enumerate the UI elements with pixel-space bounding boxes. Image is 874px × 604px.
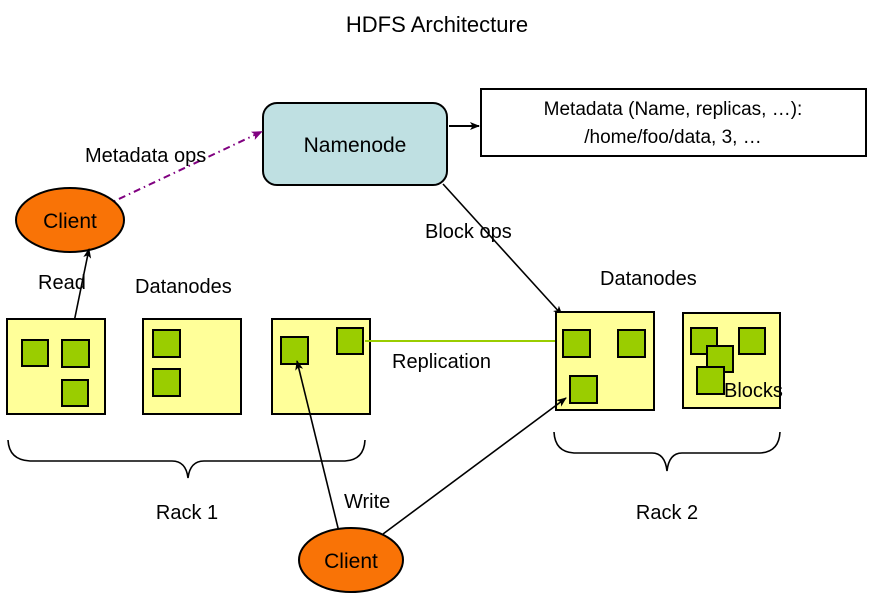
block <box>153 369 180 396</box>
block <box>570 376 597 403</box>
write-arrow-to-dn4 <box>383 398 566 534</box>
metadata-box-line1: Metadata (Name, replicas, …): <box>544 99 803 120</box>
rack1-brace <box>8 440 365 478</box>
datanode-dn2[interactable] <box>143 319 241 414</box>
block <box>739 328 765 354</box>
block <box>563 330 590 357</box>
block <box>697 367 724 394</box>
diagram-canvas: HDFS Architecture Metadata (Name, replic… <box>0 0 874 604</box>
rack1-label: Rack 1 <box>156 502 218 524</box>
block <box>618 330 645 357</box>
block <box>281 337 308 364</box>
block <box>62 380 88 406</box>
client-left-label: Client <box>43 210 97 233</box>
block-ops-arrow <box>443 184 562 315</box>
metadata-ops-arrow <box>104 132 261 206</box>
datanodes-right-label: Datanodes <box>600 268 697 290</box>
read-label: Read <box>38 272 86 294</box>
datanode-dn3[interactable] <box>272 319 370 414</box>
datanode-dn5[interactable]: Blocks <box>683 313 783 408</box>
rack2-brace <box>554 432 780 471</box>
page-title: HDFS Architecture <box>346 12 528 37</box>
block <box>62 340 89 367</box>
replication-label: Replication <box>392 351 491 373</box>
datanode-dn4[interactable] <box>556 312 654 410</box>
datanode-dn1[interactable] <box>7 319 105 414</box>
metadata-ops-label: Metadata ops <box>85 145 206 167</box>
metadata-box-line2: /home/foo/data, 3, … <box>584 127 761 148</box>
block <box>22 340 48 366</box>
block <box>153 330 180 357</box>
rack2-label: Rack 2 <box>636 502 698 524</box>
block <box>337 328 363 354</box>
blocks-label: Blocks <box>724 380 783 402</box>
client-bottom-label: Client <box>324 550 378 573</box>
write-label: Write <box>344 491 390 513</box>
namenode-label: Namenode <box>304 134 407 157</box>
datanodes-left-label: Datanodes <box>135 276 232 298</box>
block-ops-label: Block ops <box>425 221 512 243</box>
hdfs-architecture-diagram: HDFS Architecture Metadata (Name, replic… <box>0 0 874 604</box>
